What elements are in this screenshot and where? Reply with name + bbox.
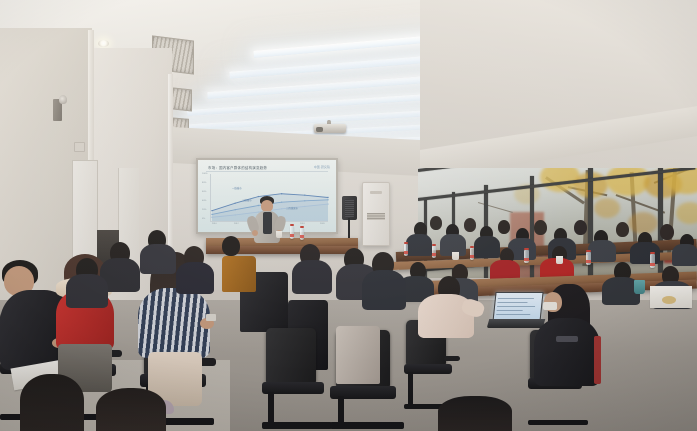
attendee-body bbox=[292, 260, 332, 294]
attendee-head bbox=[498, 220, 510, 234]
snack-item bbox=[662, 296, 676, 304]
attendee-hair bbox=[96, 388, 166, 431]
recessed-downlight bbox=[98, 40, 109, 47]
attendee-body bbox=[66, 274, 108, 308]
chair-leg bbox=[268, 392, 274, 424]
attendee-body bbox=[362, 270, 406, 310]
autumn-foliage bbox=[628, 212, 658, 234]
attendee-body bbox=[474, 236, 500, 258]
water-bottle bbox=[524, 250, 529, 263]
water-bottle bbox=[404, 244, 408, 256]
draped-jacket bbox=[222, 256, 256, 292]
attendee-body bbox=[140, 244, 176, 274]
projector-lens bbox=[316, 127, 323, 132]
laptop[interactable] bbox=[488, 292, 544, 332]
conference-room-photo: 市场：国内客户群体的结构演变趋势 中国·研究院 100% 80% 60% 40%… bbox=[0, 0, 697, 431]
paper-cup bbox=[276, 231, 282, 238]
pa-speaker bbox=[342, 196, 357, 220]
attendee-head bbox=[222, 236, 240, 256]
water-bottle bbox=[290, 226, 294, 239]
teal-mug bbox=[634, 280, 645, 294]
attendee-head bbox=[534, 220, 547, 235]
presenter bbox=[248, 196, 286, 250]
attendee-body bbox=[406, 234, 432, 256]
speaker-stand bbox=[348, 218, 350, 240]
attendee-hair bbox=[438, 396, 512, 431]
attendee-head bbox=[464, 218, 476, 232]
attendee-hair bbox=[20, 374, 84, 431]
lanyard bbox=[594, 336, 601, 384]
camera-dome bbox=[59, 95, 67, 104]
water-bottle bbox=[470, 248, 474, 260]
attendee-head bbox=[616, 222, 629, 237]
water-bottle bbox=[432, 246, 436, 258]
chair-back bbox=[266, 328, 316, 384]
presenter-hand-left bbox=[252, 230, 258, 236]
paper-cup bbox=[556, 256, 563, 264]
water-bottle bbox=[650, 254, 655, 268]
smartphone[interactable] bbox=[206, 314, 216, 321]
attendee-body bbox=[588, 240, 616, 262]
ac-logo bbox=[370, 191, 382, 194]
attendee-body bbox=[630, 242, 660, 264]
face-mask bbox=[543, 302, 557, 310]
chair-leg bbox=[338, 396, 344, 426]
attendee-head bbox=[574, 220, 587, 235]
projector bbox=[310, 120, 350, 135]
autumn-foliage bbox=[594, 198, 620, 218]
air-conditioner-unit bbox=[362, 182, 390, 246]
attendee-body bbox=[672, 244, 697, 266]
draped-jacket bbox=[336, 326, 380, 384]
jacket-detail bbox=[556, 336, 578, 342]
water-bottle bbox=[586, 252, 591, 265]
attendee-head bbox=[660, 224, 674, 240]
laptop-keyboard[interactable] bbox=[487, 319, 546, 328]
attendee-body bbox=[176, 262, 214, 294]
chart-series-label: 三四线城市 bbox=[286, 206, 298, 210]
presenter-shirt bbox=[263, 212, 272, 234]
chair-base bbox=[528, 420, 588, 425]
chair-armrest bbox=[444, 356, 460, 361]
paper-cup bbox=[452, 252, 459, 260]
attendee-head bbox=[430, 216, 442, 230]
security-camera-icon bbox=[53, 95, 67, 121]
ac-grille bbox=[367, 213, 385, 220]
chart-series-label: 一线城市 bbox=[232, 186, 242, 190]
water-bottle bbox=[300, 228, 304, 240]
laptop-screen bbox=[492, 292, 543, 322]
wall-sign bbox=[74, 142, 85, 152]
attendee-black-jacket bbox=[534, 318, 600, 386]
autumn-foliage bbox=[676, 202, 697, 224]
